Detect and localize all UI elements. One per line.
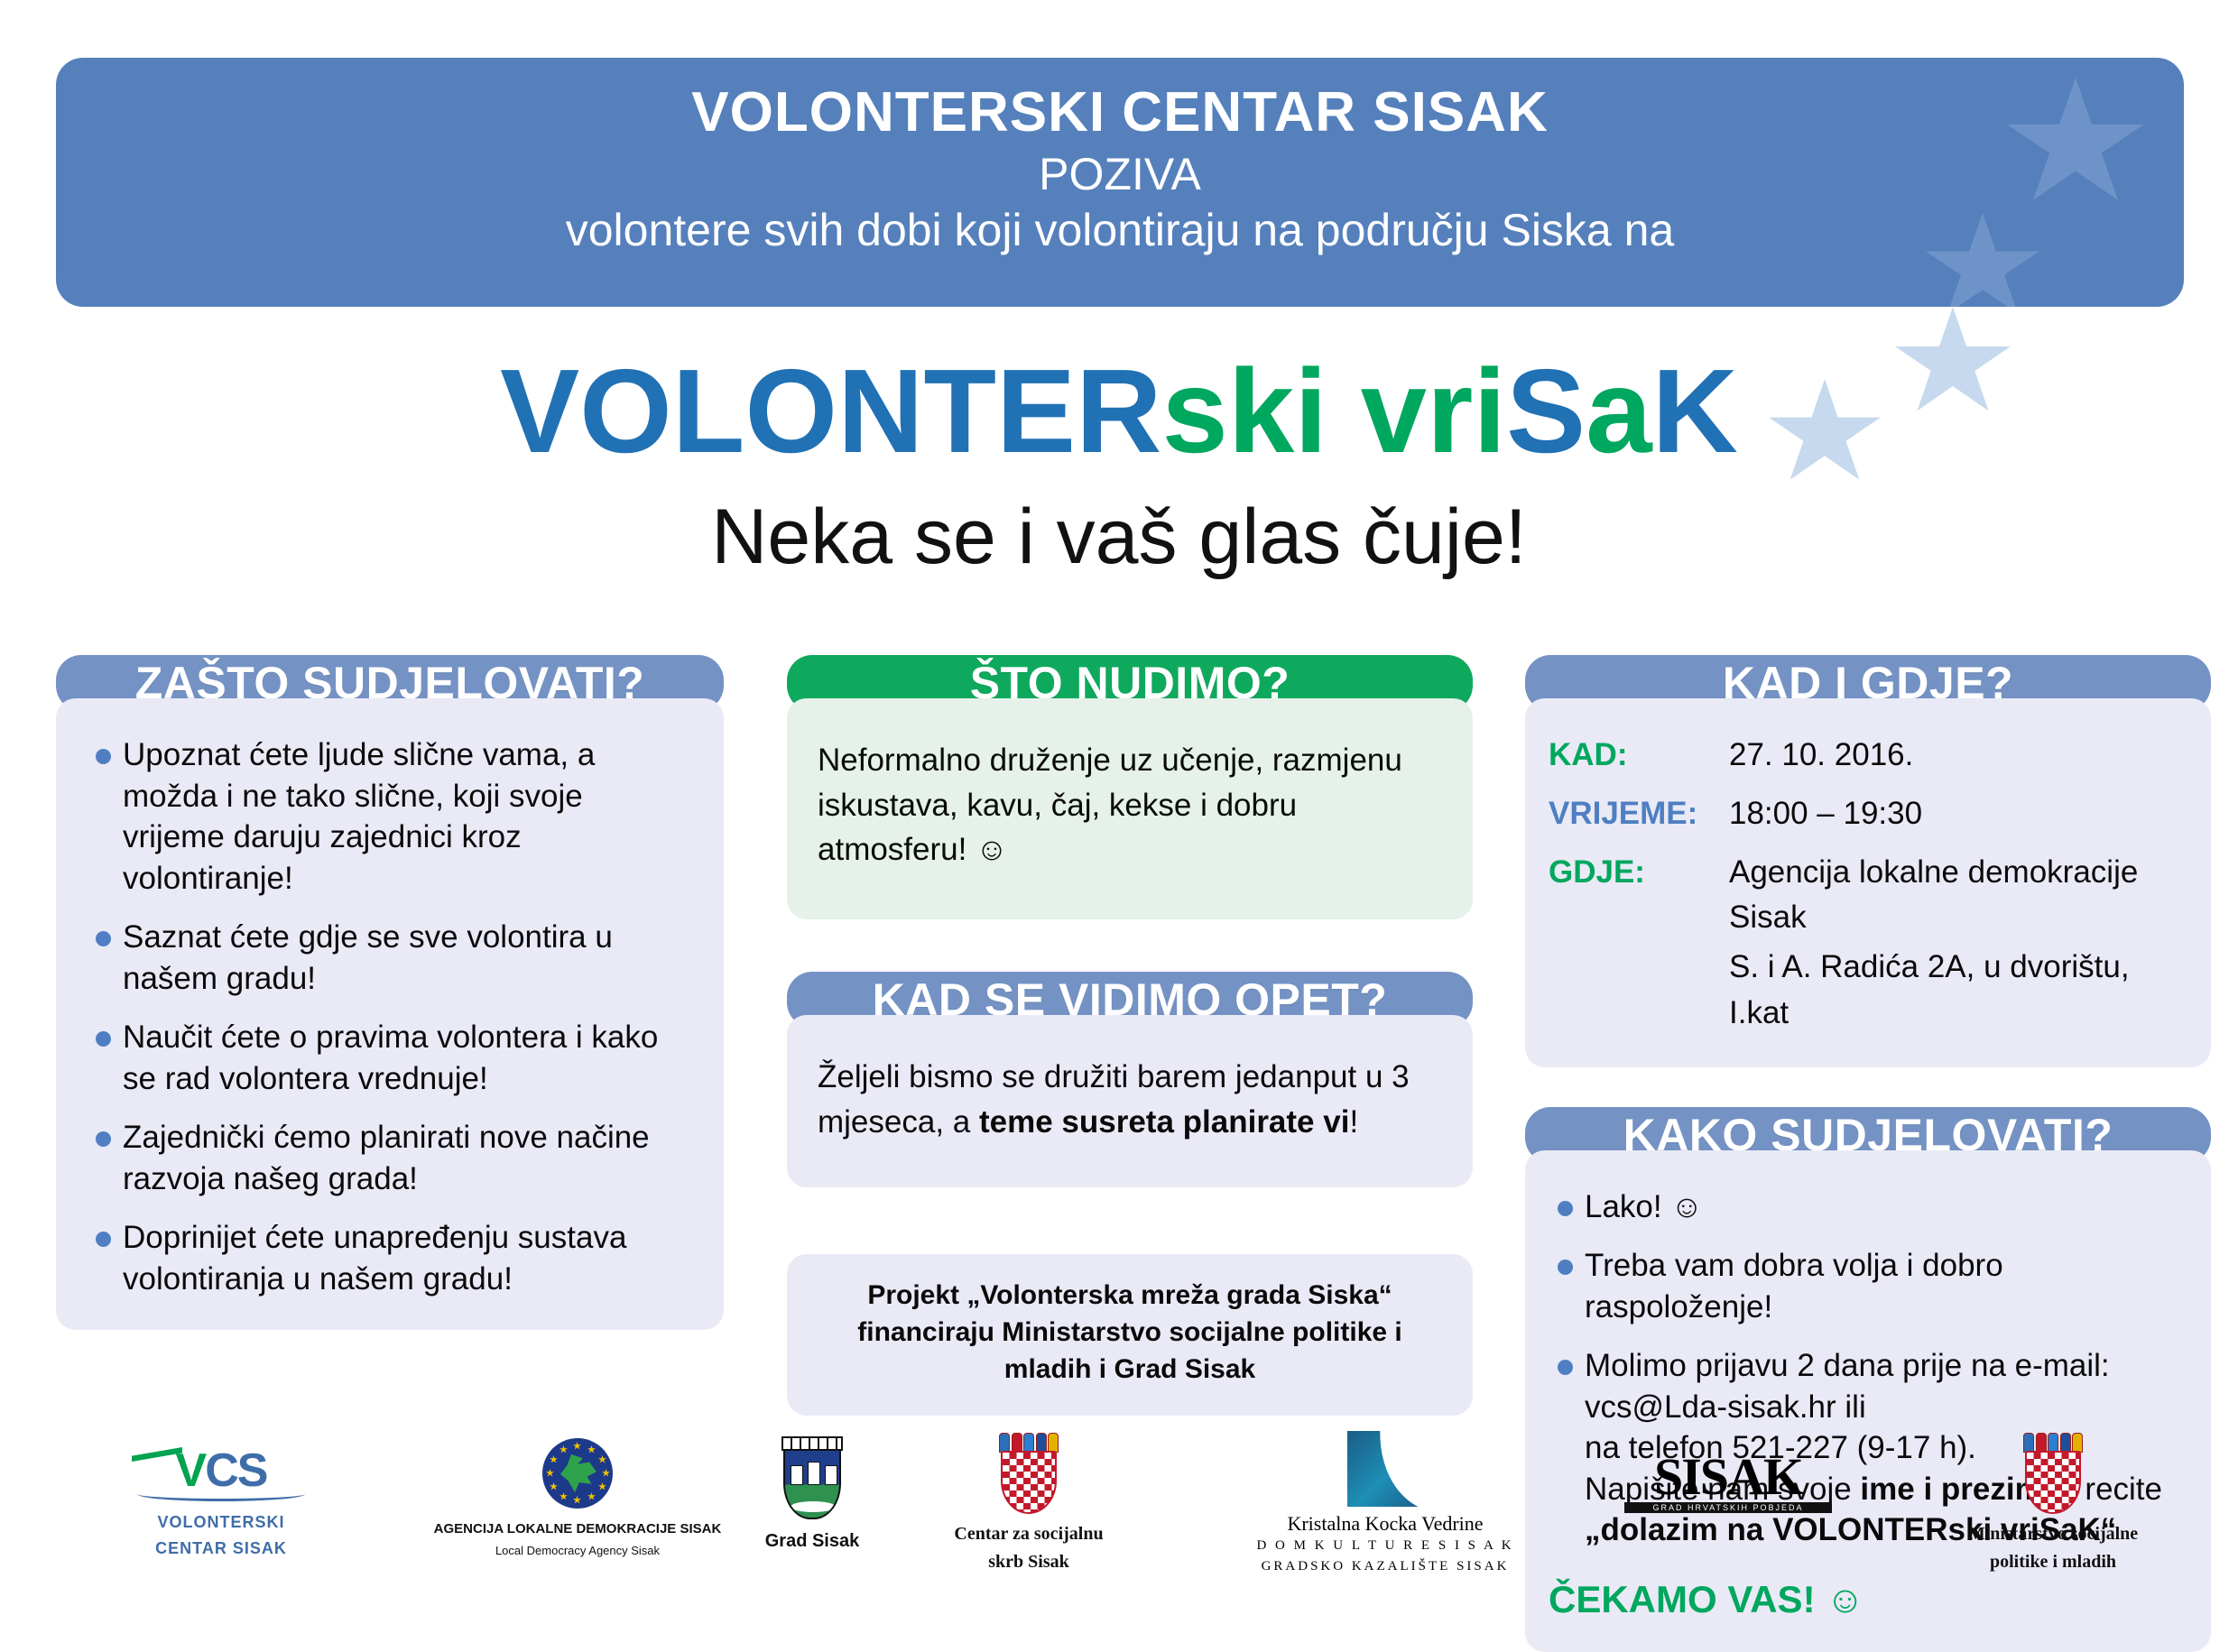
logo-sisak-grad: SISAK GRAD HRVATSKIH POBJEDA bbox=[1624, 1453, 1832, 1513]
croatian-coat-of-arms-icon bbox=[997, 1433, 1060, 1516]
column-why: ZAŠTO SUDJELOVATI? Upoznat ćete ljude sl… bbox=[56, 655, 724, 1330]
logo-caption: Grad Sisak bbox=[713, 1530, 911, 1553]
logo-kristalna-kocka-vedrine: Kristalna Kocka Vedrine D O M K U L T U … bbox=[1236, 1431, 1534, 1576]
logo-caption: AGENCIJA LOKALNE DEMOKRACIJE SISAK bbox=[433, 1521, 722, 1538]
list-item: Treba vam dobra volja i dobro raspoložen… bbox=[1549, 1245, 2184, 1327]
logo-caption: D O M K U L T U R E S I S A K bbox=[1236, 1536, 1534, 1556]
logo-grad-sisak: Grad Sisak bbox=[713, 1435, 911, 1553]
logo-caption: GRAD HRVATSKIH POBJEDA bbox=[1624, 1502, 1832, 1513]
title-part-ski-vri: ski vri bbox=[1161, 345, 1506, 477]
how-email-address: vcs@Lda-sisak.hr ili bbox=[1585, 1389, 1866, 1425]
section-body-why: Upoznat ćete ljude slične vama, a možda … bbox=[56, 698, 724, 1330]
column-offer: ŠTO NUDIMO? Neformalno druženje uz učenj… bbox=[787, 655, 1473, 1416]
header-subtitle-poziva: POZIVA bbox=[56, 147, 2184, 201]
detail-row-vrijeme: VRIJEME: 18:00 – 19:30 bbox=[1549, 791, 2180, 837]
section-body-again: Željeli bismo se družiti barem jedanput … bbox=[787, 1015, 1473, 1187]
offer-text: Neformalno druženje uz učenje, razmjenu … bbox=[818, 738, 1442, 872]
kkv-swoosh-icon bbox=[1372, 1431, 1423, 1507]
list-item: Saznat ćete gdje se sve volontira u naše… bbox=[87, 917, 693, 999]
page-title: VOLONTERski vriSaK bbox=[0, 352, 2238, 471]
again-text: Željeli bismo se družiti barem jedanput … bbox=[818, 1055, 1442, 1144]
list-item: Lako! ☺ bbox=[1549, 1186, 2184, 1228]
detail-address-line-2: S. i A. Radića 2A, u dvorištu, I.kat bbox=[1729, 945, 2180, 1037]
title-part-a: a bbox=[1586, 345, 1651, 477]
header-title: VOLONTERSKI CENTAR SISAK bbox=[56, 81, 2184, 143]
header-banner: VOLONTERSKI CENTAR SISAK POZIVA volonter… bbox=[56, 58, 2184, 307]
list-item: Naučit ćete o pravima volontera i kako s… bbox=[87, 1017, 693, 1099]
logo-caption: Local Democracy Agency Sisak bbox=[433, 1544, 722, 1558]
detail-key: VRIJEME: bbox=[1549, 791, 1729, 837]
again-text-after: ! bbox=[1349, 1104, 1358, 1140]
logo-caption: skrb Sisak bbox=[902, 1551, 1155, 1574]
detail-row-gdje: GDJE: Agencija lokalne demokracije Sisak bbox=[1549, 850, 2180, 942]
logo-caption: GRADSKO KAZALIŠTE SISAK bbox=[1236, 1556, 1534, 1577]
detail-value: 18:00 – 19:30 bbox=[1729, 791, 1922, 837]
why-bullet-list: Upoznat ćete ljude slične vama, a možda … bbox=[87, 734, 693, 1299]
croatian-coat-of-arms-icon bbox=[2021, 1433, 2085, 1516]
funders-box: Projekt „Volonterska mreža grada Siska“ … bbox=[787, 1254, 1473, 1415]
header-subtitle-invite: volontere svih dobi koji volontiraju na … bbox=[56, 203, 2184, 257]
page-subtitle: Neka se i vaš glas čuje! bbox=[0, 498, 2238, 576]
detail-value: 27. 10. 2016. bbox=[1729, 733, 1913, 779]
list-item: Upoznat ćete ljude slične vama, a možda … bbox=[87, 734, 693, 899]
kkv-cube-icon bbox=[1347, 1431, 1423, 1507]
sisak-wordmark: SISAK bbox=[1624, 1453, 1832, 1500]
partner-logos: VCS VOLONTERSKI CENTAR SISAK AGENCIJA LO… bbox=[0, 1429, 2238, 1583]
detail-row-kad: KAD: 27. 10. 2016. bbox=[1549, 733, 2180, 779]
main-title-block: VOLONTERski vriSaK Neka se i vaš glas ču… bbox=[0, 352, 2238, 576]
detail-key: KAD: bbox=[1549, 733, 1729, 779]
grad-sisak-coat-of-arms-icon bbox=[778, 1435, 846, 1521]
title-part-s: S bbox=[1506, 345, 1586, 477]
logo-lda-sisak: AGENCIJA LOKALNE DEMOKRACIJE SISAK Local… bbox=[433, 1438, 722, 1558]
title-part-k: K bbox=[1652, 345, 1738, 477]
vcs-mark-icon: VCS bbox=[144, 1445, 298, 1496]
funders-line-2: financiraju Ministarstvo socijalne polit… bbox=[823, 1315, 1437, 1352]
list-item: Doprinijet ćete unapređenju sustava volo… bbox=[87, 1217, 693, 1299]
logo-caption: Centar za socijalnu bbox=[902, 1523, 1155, 1546]
again-text-bold: teme susreta planirate vi bbox=[979, 1104, 1349, 1140]
closing-call: ČEKAMO VAS! ☺ bbox=[1549, 1578, 2184, 1621]
logo-caption: Kristalna Kocka Vedrine bbox=[1236, 1512, 1534, 1536]
logo-caption: CENTAR SISAK bbox=[108, 1538, 334, 1559]
section-body-when-where: KAD: 27. 10. 2016. VRIJEME: 18:00 – 19:3… bbox=[1525, 698, 2211, 1067]
logo-caption: Ministarstvo socijalne bbox=[1922, 1523, 2184, 1546]
list-item: Zajednički ćemo planirati nove načine ra… bbox=[87, 1117, 693, 1199]
eu-stars-circle-icon bbox=[542, 1438, 613, 1509]
eu-map-shape-icon bbox=[560, 1454, 596, 1492]
logo-centar-socijalna-skrb: Centar za socijalnu skrb Sisak bbox=[902, 1433, 1155, 1574]
funders-line-1: Projekt „Volonterska mreža grada Siska“ bbox=[823, 1278, 1437, 1315]
logo-caption: VOLONTERSKI bbox=[108, 1512, 334, 1533]
logo-vcs: VCS VOLONTERSKI CENTAR SISAK bbox=[108, 1445, 334, 1558]
title-part-volonter: VOLONTER bbox=[500, 345, 1161, 477]
section-body-offer: Neformalno druženje uz učenje, razmjenu … bbox=[787, 698, 1473, 919]
funders-line-3: mladih i Grad Sisak bbox=[823, 1352, 1437, 1389]
logo-caption: politike i mladih bbox=[1922, 1551, 2184, 1574]
detail-key: GDJE: bbox=[1549, 850, 1729, 942]
vcs-swoosh-icon bbox=[137, 1487, 305, 1501]
detail-value: Agencija lokalne demokracije Sisak bbox=[1729, 850, 2180, 942]
content-columns: ZAŠTO SUDJELOVATI? Upoznat ćete ljude sl… bbox=[0, 655, 2238, 1413]
logo-ministarstvo: Ministarstvo socijalne politike i mladih bbox=[1922, 1433, 2184, 1574]
how-email-line: Molimo prijavu 2 dana prije na e-mail: bbox=[1585, 1348, 2110, 1383]
